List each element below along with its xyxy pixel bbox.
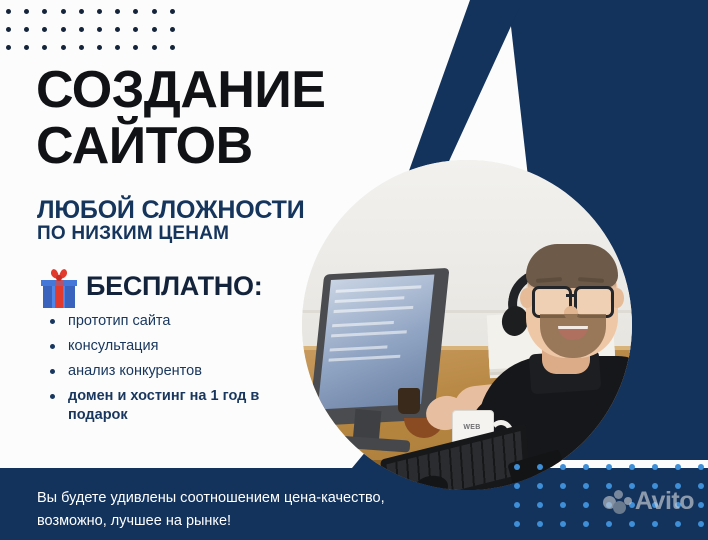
- list-item: домен и хостинг на 1 год в подарок: [46, 387, 296, 425]
- footer-line-2: возможно, лучшее на рынке!: [37, 510, 477, 533]
- benefits-list: прототип сайта консультация анализ конку…: [46, 312, 296, 431]
- avito-watermark: Avito: [603, 489, 694, 514]
- page-title: СОЗДАНИЕ САЙТОВ: [36, 62, 366, 174]
- footer-message: Вы будете удивлены соотношением цена-кач…: [37, 487, 477, 533]
- dot-row: [6, 9, 174, 14]
- footer-line-1: Вы будете удивлены соотношением цена-кач…: [37, 487, 477, 510]
- dot-row: [494, 521, 704, 527]
- headline-line-1: СОЗДАНИЕ: [36, 62, 366, 118]
- avito-wordmark: Avito: [635, 489, 694, 514]
- dot-row: [494, 464, 704, 470]
- yellow-ring: [289, 147, 645, 503]
- list-item: консультация: [46, 337, 296, 356]
- avito-logo-icon: [603, 490, 633, 514]
- list-item: прототип сайта: [46, 312, 296, 331]
- dot-grid-top-left: [6, 9, 174, 49]
- free-heading: БЕСПЛАТНО:: [86, 271, 262, 302]
- gift-box-icon: [31, 262, 87, 312]
- advertisement-banner: WEB СОЗДАНИЕ САЙТОВ ЛЮБОЙ СЛОЖНОСТИ ПО Н…: [0, 0, 708, 540]
- subtitle-primary: ЛЮБОЙ СЛОЖНОСТИ: [37, 196, 305, 225]
- list-item: анализ конкурентов: [46, 362, 296, 381]
- dot-row: [6, 45, 174, 50]
- subtitle-secondary: ПО НИЗКИМ ЦЕНАМ: [37, 223, 229, 245]
- headline-line-2: САЙТОВ: [36, 118, 366, 174]
- dot-row: [6, 27, 174, 32]
